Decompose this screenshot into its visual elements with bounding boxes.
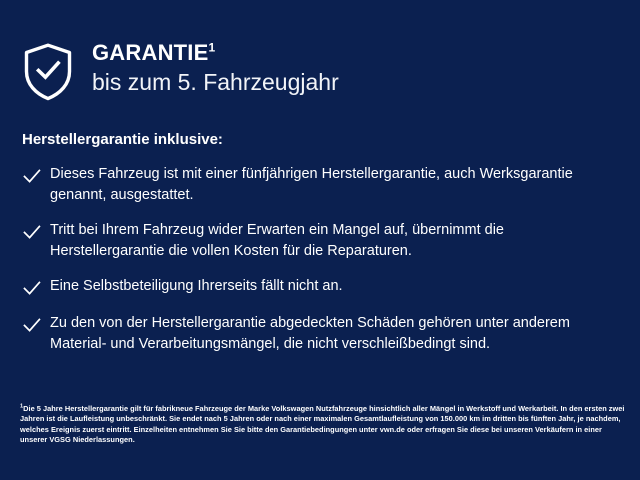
page-subtitle: bis zum 5. Fahrzeugjahr xyxy=(92,68,339,96)
list-item-label: Tritt bei Ihrem Fahrzeug wider Erwarten … xyxy=(50,220,610,262)
list-item-label: Zu den von der Herstellergarantie abgede… xyxy=(50,313,610,355)
list-item-label: Eine Selbstbeteiligung Ihrerseits fällt … xyxy=(50,276,343,297)
list-item: Dieses Fahrzeug ist mit einer fünfjährig… xyxy=(22,164,620,206)
page-title-footnote-marker: 1 xyxy=(209,41,216,55)
list-item: Eine Selbstbeteiligung Ihrerseits fällt … xyxy=(22,276,620,299)
list-item: Zu den von der Herstellergarantie abgede… xyxy=(22,313,620,355)
check-icon xyxy=(22,314,42,336)
hero-text-block: GARANTIE1 bis zum 5. Fahrzeugjahr xyxy=(92,40,339,96)
main-content: Herstellergarantie inklusive: Dieses Fah… xyxy=(22,130,620,355)
benefits-list: Dieses Fahrzeug ist mit einer fünfjährig… xyxy=(22,164,620,355)
footnote: 1Die 5 Jahre Herstellergarantie gilt für… xyxy=(20,404,626,446)
list-item: Tritt bei Ihrem Fahrzeug wider Erwarten … xyxy=(22,220,620,262)
page-title-label: GARANTIE xyxy=(92,40,209,65)
check-icon xyxy=(22,165,42,187)
page-title: GARANTIE1 xyxy=(92,40,339,66)
check-icon xyxy=(22,221,42,243)
check-icon xyxy=(22,277,42,299)
shield-check-icon xyxy=(22,42,74,102)
warranty-info-panel: GARANTIE1 bis zum 5. Fahrzeugjahr Herste… xyxy=(0,0,640,480)
section-lead-heading: Herstellergarantie inklusive: xyxy=(22,130,620,150)
hero-header: GARANTIE1 bis zum 5. Fahrzeugjahr xyxy=(22,40,339,102)
list-item-label: Dieses Fahrzeug ist mit einer fünfjährig… xyxy=(50,164,610,206)
footnote-text: Die 5 Jahre Herstellergarantie gilt für … xyxy=(20,404,625,444)
